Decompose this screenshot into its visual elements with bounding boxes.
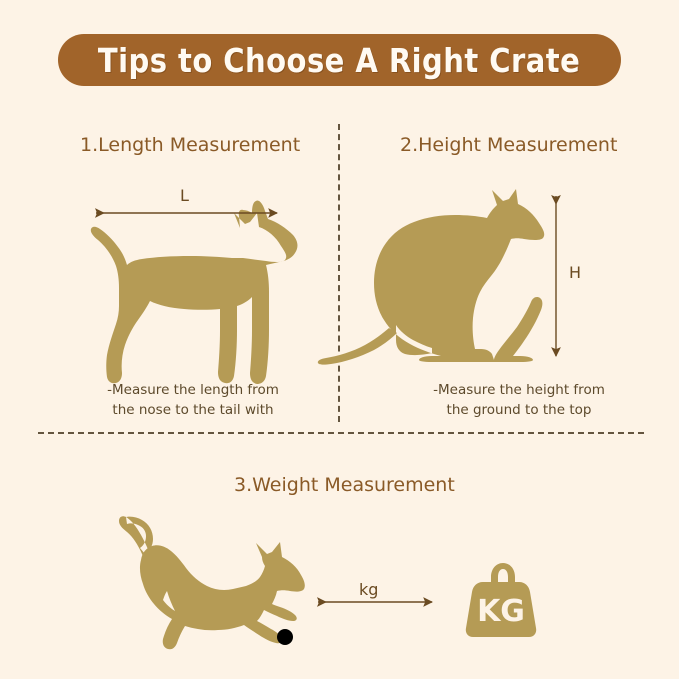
section-heading-height: 2.Height Measurement: [400, 134, 617, 156]
dimension-label-weight: kg: [359, 580, 378, 599]
caption-length: -Measure the length from the nose to the…: [68, 381, 318, 420]
sitting-dog-silhouette: [318, 189, 544, 365]
vertical-divider: [338, 124, 340, 422]
ball-icon: [277, 629, 293, 645]
section-heading-weight: 3.Weight Measurement: [234, 474, 455, 496]
playing-dog-silhouette: [119, 516, 305, 649]
dimension-label-height: H: [569, 263, 581, 282]
kg-icon-label: KG: [477, 594, 525, 629]
title-banner: Tips to Choose A Right Crate: [58, 34, 621, 86]
section-heading-length: 1.Length Measurement: [80, 134, 300, 156]
horizontal-divider: [38, 432, 644, 434]
dimension-label-length: L: [180, 186, 189, 205]
standing-dog-silhouette: [91, 201, 298, 384]
page-title: Tips to Choose A Right Crate: [98, 41, 580, 80]
caption-height: -Measure the height from the ground to t…: [394, 381, 644, 420]
infographic-page: Tips to Choose A Right Crate 1.Length Me…: [0, 0, 679, 679]
kg-weight-icon: KG: [463, 558, 539, 638]
